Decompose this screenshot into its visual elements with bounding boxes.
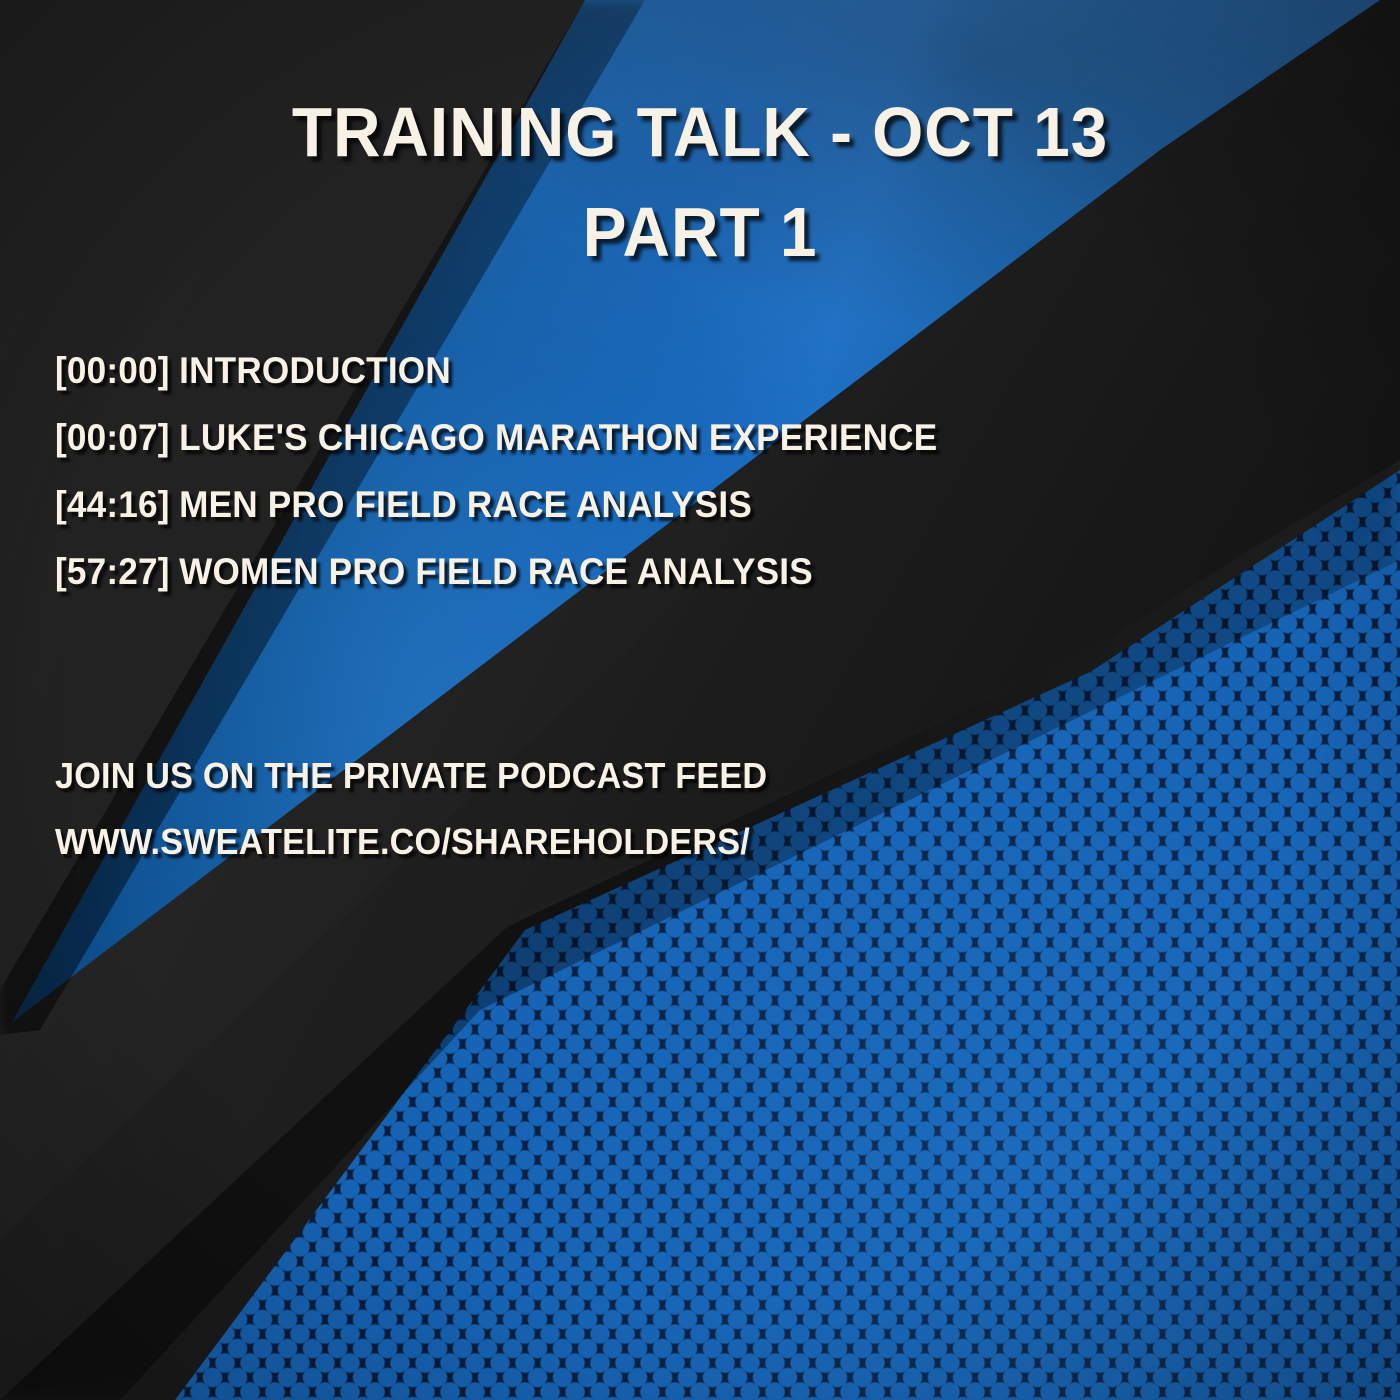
footer-block: JOIN US ON THE PRIVATE PODCAST FEED WWW.… (55, 758, 805, 890)
chapter-label: LUKE'S CHICAGO MARATHON EXPERIENCE (179, 417, 937, 458)
chapter-item-0: [00:00]INTRODUCTION (55, 352, 937, 389)
chapter-item-2: [44:16]MEN PRO FIELD RACE ANALYSIS (55, 486, 937, 523)
episode-cover-artwork: TRAINING TALK - OCT 13 PART 1 [00:00]INT… (0, 0, 1400, 1400)
chapter-label: INTRODUCTION (179, 350, 451, 391)
chapter-label: WOMEN PRO FIELD RACE ANALYSIS (179, 551, 813, 592)
podcast-feed-call-to-action: JOIN US ON THE PRIVATE PODCAST FEED (55, 758, 767, 794)
chapter-timestamp: [57:27] (55, 551, 170, 592)
chapter-list: [00:00]INTRODUCTION [00:07]LUKE'S CHICAG… (55, 352, 984, 620)
chapter-item-1: [00:07]LUKE'S CHICAGO MARATHON EXPERIENC… (55, 419, 937, 456)
shareholders-url: WWW.SWEATELITE.CO/SHAREHOLDERS/ (55, 824, 767, 860)
episode-title-line-1: TRAINING TALK - OCT 13 (42, 84, 1358, 181)
episode-title-line-2: PART 1 (42, 184, 1358, 281)
chapter-label: MEN PRO FIELD RACE ANALYSIS (179, 484, 752, 525)
chapter-item-3: [57:27]WOMEN PRO FIELD RACE ANALYSIS (55, 553, 937, 590)
chapter-timestamp: [00:07] (55, 417, 170, 458)
chapter-timestamp: [44:16] (55, 484, 170, 525)
chapter-timestamp: [00:00] (55, 350, 170, 391)
cover-content: TRAINING TALK - OCT 13 PART 1 [00:00]INT… (0, 0, 1400, 1400)
